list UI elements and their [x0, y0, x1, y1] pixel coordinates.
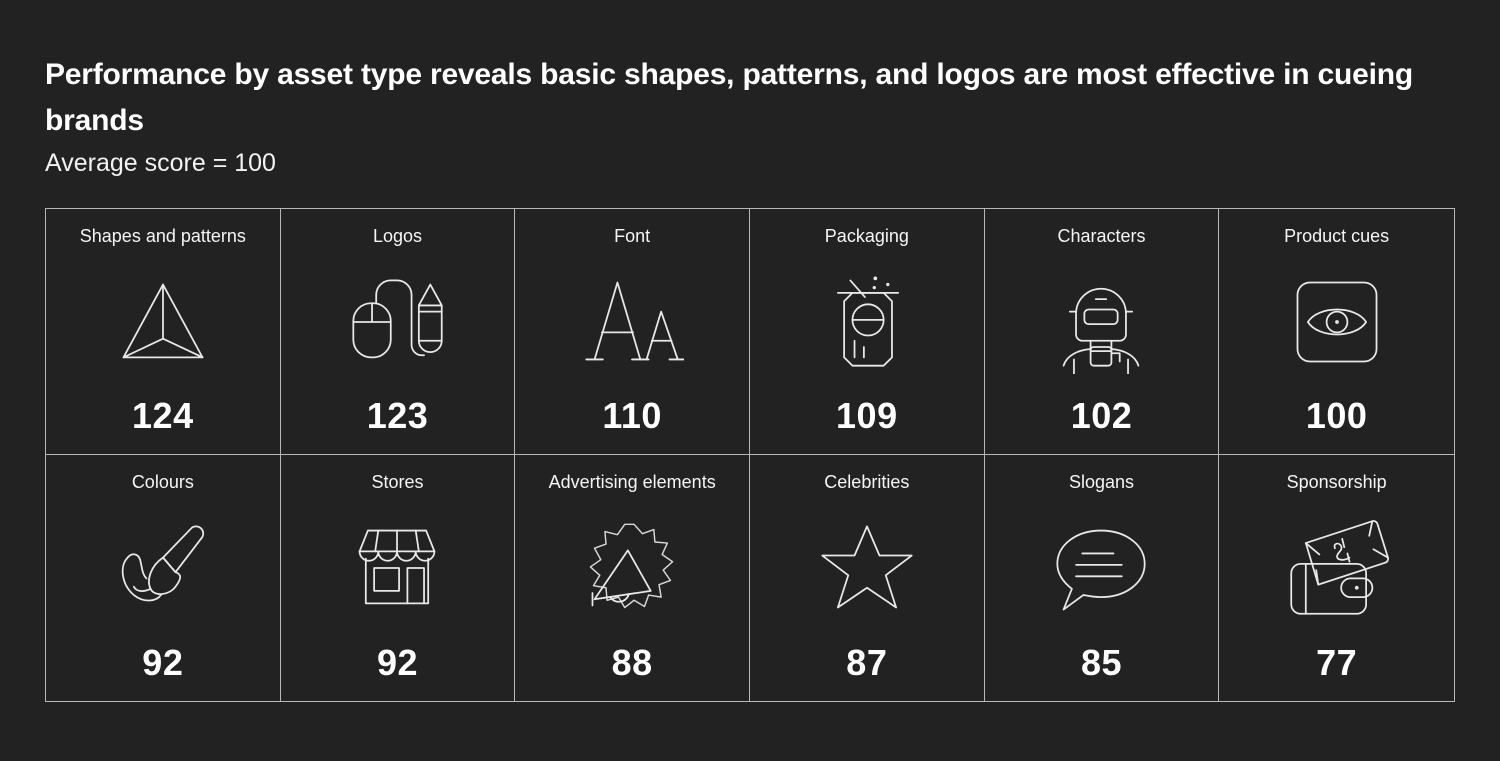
grid-cell-advertising-elements[interactable]: Advertising elements 88 — [515, 455, 750, 701]
letter-aa-icon — [515, 247, 749, 396]
can-icon — [750, 247, 984, 396]
cell-value: 110 — [602, 396, 662, 436]
page-subtitle: Average score = 100 — [45, 147, 1455, 180]
storefront-icon — [281, 493, 515, 643]
paintbrush-icon — [46, 493, 280, 643]
cell-value: 87 — [846, 643, 887, 683]
grid-cell-packaging[interactable]: Packaging 109 — [750, 209, 985, 455]
page-title: Performance by asset type reveals basic … — [45, 52, 1445, 143]
cell-label: Advertising elements — [549, 471, 716, 493]
cell-value: 102 — [1071, 396, 1133, 436]
cell-label: Slogans — [1069, 471, 1134, 493]
cell-value: 88 — [612, 643, 653, 683]
grid-cell-colours[interactable]: Colours 92 — [46, 455, 281, 701]
grid-cell-slogans[interactable]: Slogans 85 — [985, 455, 1220, 701]
grid-cell-sponsorship[interactable]: Sponsorship 77 — [1219, 455, 1454, 701]
cell-label: Packaging — [825, 225, 909, 247]
grid-cell-logos[interactable]: Logos 123 — [281, 209, 516, 455]
megaphone-burst-icon — [515, 493, 749, 643]
cell-value: 77 — [1316, 643, 1357, 683]
grid-cell-font[interactable]: Font 110 — [515, 209, 750, 455]
star-icon — [750, 493, 984, 643]
cell-label: Colours — [132, 471, 194, 493]
cell-value: 100 — [1306, 396, 1368, 436]
speech-bubble-icon — [985, 493, 1219, 643]
cell-value: 92 — [142, 643, 183, 683]
grid-cell-shapes-and-patterns[interactable]: Shapes and patterns 124 — [46, 209, 281, 455]
cell-value: 124 — [132, 396, 194, 436]
cell-value: 123 — [367, 396, 429, 436]
cell-label: Font — [614, 225, 650, 247]
cell-label: Sponsorship — [1287, 471, 1387, 493]
grid-cell-characters[interactable]: Characters 102 — [985, 209, 1220, 455]
pyramid-icon — [46, 247, 280, 396]
asset-type-grid: Shapes and patterns 124 Logos — [45, 208, 1455, 702]
wallet-card-icon — [1219, 493, 1454, 643]
grid-cell-stores[interactable]: Stores 92 — [281, 455, 516, 701]
welder-icon — [985, 247, 1219, 396]
cell-value: 85 — [1081, 643, 1122, 683]
cell-label: Characters — [1057, 225, 1145, 247]
cell-label: Shapes and patterns — [80, 225, 246, 247]
mouse-pencil-icon — [281, 247, 515, 396]
eye-square-icon — [1219, 247, 1454, 396]
cell-label: Celebrities — [824, 471, 909, 493]
cell-value: 92 — [377, 643, 418, 683]
infographic-root: Performance by asset type reveals basic … — [0, 0, 1500, 761]
grid-cell-product-cues[interactable]: Product cues 100 — [1219, 209, 1454, 455]
header: Performance by asset type reveals basic … — [45, 52, 1455, 180]
cell-value: 109 — [836, 396, 898, 436]
grid-cell-celebrities[interactable]: Celebrities 87 — [750, 455, 985, 701]
cell-label: Product cues — [1284, 225, 1389, 247]
cell-label: Stores — [371, 471, 423, 493]
cell-label: Logos — [373, 225, 422, 247]
